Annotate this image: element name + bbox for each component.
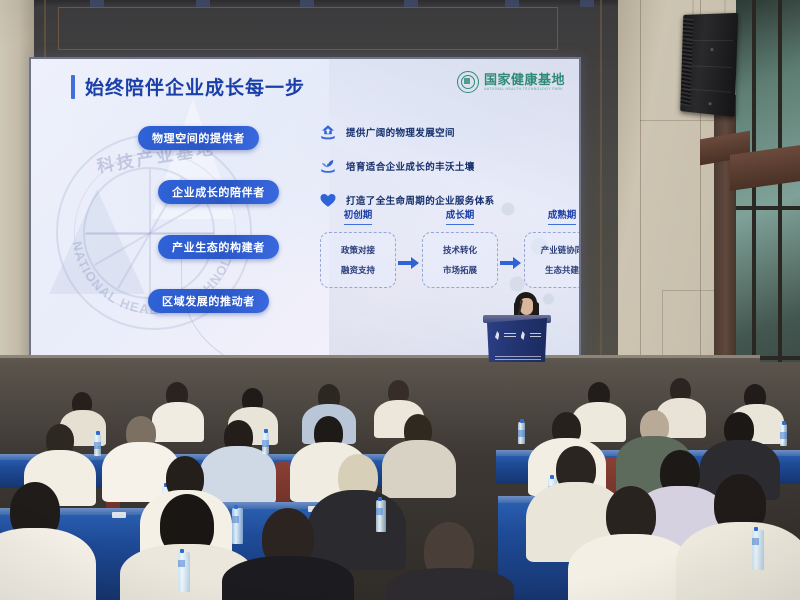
water-bottle — [376, 500, 386, 532]
slide-title-row: 始终陪伴企业成长每一步 — [71, 73, 305, 100]
leaf-mark-icon — [521, 331, 525, 340]
ceiling-light — [90, 0, 104, 7]
flow-stage-item: 政策对接 — [341, 244, 375, 256]
brand-logo: 国家健康基地 NATIONAL HEALTH TECHNOLOGY PARK — [457, 71, 565, 93]
presentation-slide: 科技产业基地 NATIONAL HEALTH TECHNOLOGY PARK 始… — [31, 59, 579, 355]
water-bottle — [232, 508, 243, 544]
wall-panel-outline — [662, 290, 720, 360]
list-item: 提供广阔的物理发展空间 — [319, 117, 495, 147]
water-bottle — [262, 432, 269, 454]
water-bottle — [780, 424, 787, 446]
window-mullion — [736, 206, 800, 210]
water-bottle — [518, 422, 525, 444]
podium-logo-text — [530, 333, 541, 339]
flow-stage-item: 技术转化 — [443, 244, 477, 256]
line-array-loudspeaker-icon — [680, 13, 738, 117]
circular-seal-icon — [457, 71, 479, 93]
role-pill: 区域发展的推动者 — [148, 289, 269, 313]
role-pill: 企业成长的陪伴者 — [158, 180, 279, 204]
ceiling-light — [505, 0, 519, 7]
ceiling-light — [580, 0, 594, 7]
role-pill: 产业生态的构建者 — [158, 235, 279, 259]
podium-logo-text — [504, 333, 515, 339]
right-arrow-icon — [499, 235, 523, 291]
audience-shoulders — [152, 402, 204, 442]
ceiling-light — [300, 0, 314, 7]
role-pill: 物理空间的提供者 — [138, 126, 259, 150]
logo-chinese-name: 国家健康基地 — [484, 73, 565, 86]
title-accent-bar — [71, 75, 75, 99]
audience-shoulders — [222, 556, 354, 600]
benefit-list: 提供广阔的物理发展空间 培育适合企业成长的丰沃土壤 打造了全生命周期的企业服务体… — [319, 117, 495, 219]
audience-shoulders — [386, 568, 514, 600]
water-bottle — [752, 530, 764, 570]
sprout-in-hand-icon — [319, 157, 337, 175]
stage-edge — [0, 355, 760, 358]
flow-stage-box: 产业链协同 生态共建 — [524, 232, 579, 288]
leaf-mark-icon — [495, 331, 499, 340]
audience-shoulders — [0, 528, 96, 600]
audience-area — [0, 362, 800, 600]
flow-stage-item: 市场拓展 — [443, 264, 477, 276]
flow-stage-box: 技术转化 市场拓展 — [422, 232, 498, 288]
audience-shoulders — [382, 440, 456, 498]
podium-logo-strip — [495, 330, 541, 341]
flow-stage-box: 政策对接 融资支持 — [320, 232, 396, 288]
water-bottle — [178, 552, 190, 592]
wall-seam — [640, 0, 641, 400]
flow-stage-title: 初创期 — [344, 207, 373, 225]
list-item: 培育适合企业成长的丰沃土壤 — [319, 151, 495, 181]
list-item-label: 培育适合企业成长的丰沃土壤 — [346, 159, 475, 173]
ceiling-light — [404, 0, 418, 7]
lifecycle-flow-diagram: 初创期 政策对接 融资支持 成长期 技术转化 市场拓展 — [319, 207, 579, 291]
flow-stage: 成长期 技术转化 市场拓展 — [421, 207, 499, 288]
flow-stage-item: 生态共建 — [545, 264, 579, 276]
list-item-label: 打造了全生命周期的企业服务体系 — [346, 193, 495, 207]
ceiling-strip — [20, 0, 620, 6]
ceiling-light — [196, 0, 210, 7]
house-in-hand-icon — [319, 123, 337, 141]
page-title: 始终陪伴企业成长每一步 — [85, 73, 305, 100]
flow-stage: 初创期 政策对接 融资支持 — [319, 207, 397, 288]
conference-photo-scene: 科技产业基地 NATIONAL HEALTH TECHNOLOGY PARK 始… — [0, 0, 800, 600]
list-item-label: 提供广阔的物理发展空间 — [346, 125, 455, 139]
flow-stage-title: 成长期 — [446, 207, 475, 225]
flow-stage-item: 产业链协同 — [541, 244, 579, 256]
wall-trim-frame — [58, 7, 558, 50]
flow-stage-title: 成熟期 — [548, 207, 577, 225]
logo-english-name: NATIONAL HEALTH TECHNOLOGY PARK — [484, 88, 565, 91]
audience-shoulders — [676, 522, 800, 600]
flow-stage: 成熟期 产业链协同 生态共建 — [523, 207, 579, 288]
wall-seam — [600, 0, 602, 400]
right-arrow-icon — [397, 235, 421, 291]
handout-paper — [112, 512, 126, 518]
flow-stage-item: 融资支持 — [341, 264, 375, 276]
water-bottle — [94, 434, 101, 456]
